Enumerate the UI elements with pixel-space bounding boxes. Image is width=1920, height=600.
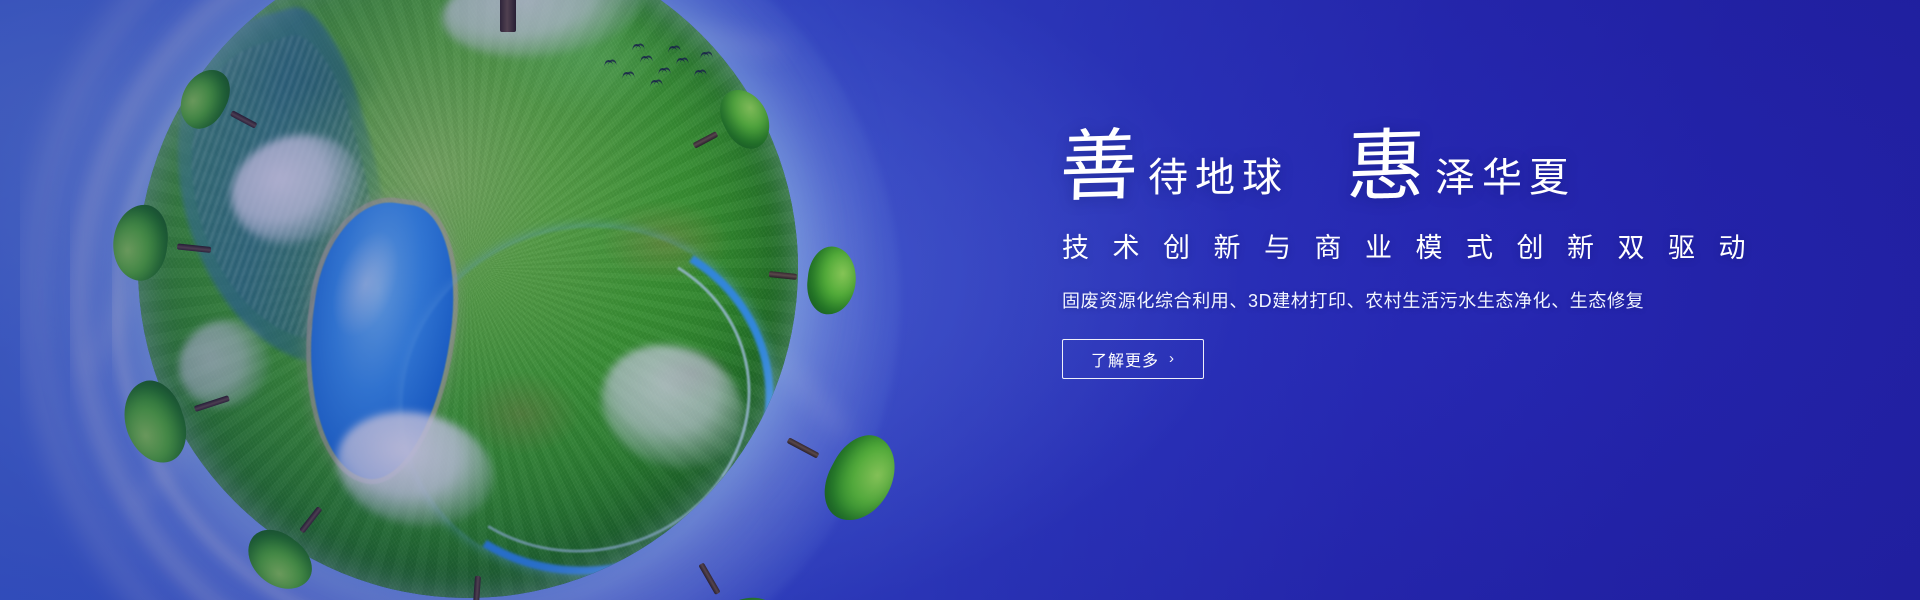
chevron-right-icon: ›: [1169, 351, 1175, 366]
headline-text-small-2: 泽华夏: [1435, 158, 1576, 204]
hero-banner: 善 待地球 惠 泽华夏 技 术 创 新 与 商 业 模 式 创 新 双 驱 动 …: [0, 0, 1920, 600]
headline-group-2: 惠 泽华夏: [1347, 132, 1576, 204]
headline-char-large-1: 善: [1059, 131, 1139, 205]
headline-text-small-1: 待地球: [1148, 158, 1289, 204]
page-subtitle: 技 术 创 新 与 商 业 模 式 创 新 双 驱 动: [1062, 226, 1800, 265]
page-title: 善 待地球 惠 泽华夏: [1060, 132, 1800, 204]
headline-char-large-2: 惠: [1346, 131, 1426, 205]
learn-more-button[interactable]: 了解更多 ›: [1062, 339, 1204, 379]
learn-more-label: 了解更多: [1091, 347, 1159, 371]
page-description: 固废资源化综合利用、3D建材打印、农村生活污水生态净化、生态修复: [1062, 287, 1800, 313]
headline-group-1: 善 待地球: [1060, 132, 1289, 204]
hero-content: 善 待地球 惠 泽华夏 技 术 创 新 与 商 业 模 式 创 新 双 驱 动 …: [1060, 132, 1800, 379]
